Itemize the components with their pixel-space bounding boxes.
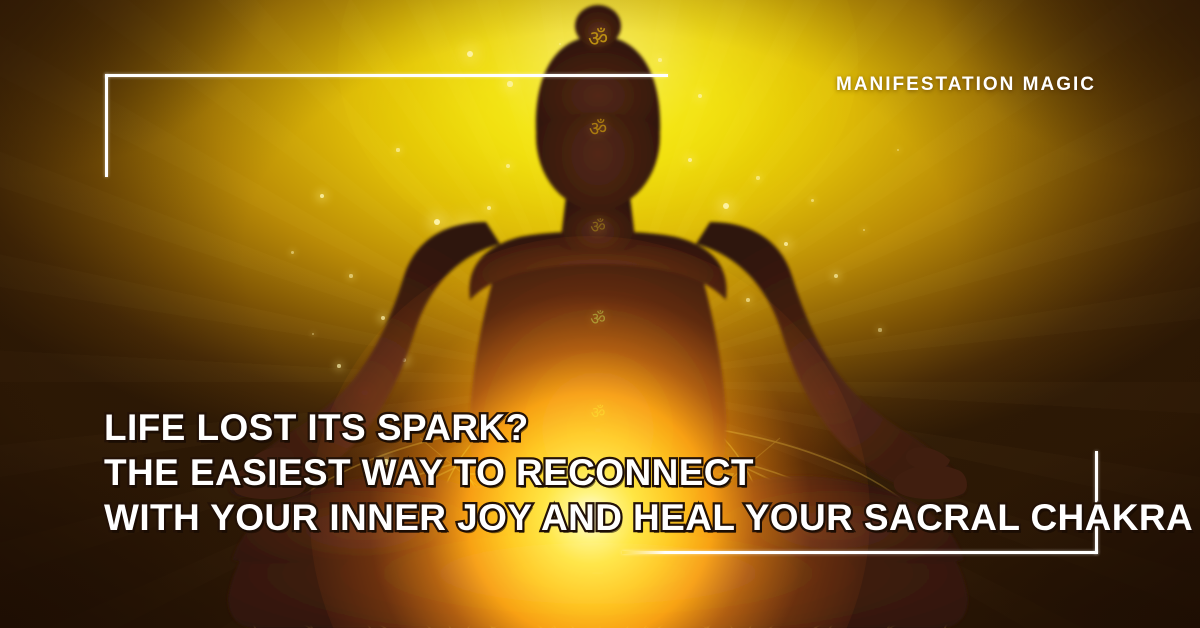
headline-line-2: THE EASIEST WAY TO RECONNECT	[104, 450, 1193, 495]
third-eye-om-symbol: ॐ	[589, 115, 607, 142]
top-left-bracket-vertical	[105, 74, 108, 177]
headline-line-3: WITH YOUR INNER JOY AND HEAL YOUR SACRAL…	[104, 495, 1193, 540]
crown-om-symbol: ॐ	[588, 23, 608, 53]
promo-banner: ॐॐॐॐॐ MANIFESTATION MAGIC LIFE LOST ITS …	[0, 0, 1200, 628]
heart-chakra-symbol: ॐ	[590, 307, 606, 330]
headline-line-1: LIFE LOST ITS SPARK?	[104, 405, 1193, 450]
throat-chakra-symbol: ॐ	[590, 215, 606, 238]
bottom-right-bracket-horizontal	[622, 551, 1098, 554]
headline-block: LIFE LOST ITS SPARK? THE EASIEST WAY TO …	[104, 405, 1193, 540]
top-left-bracket-horizontal	[105, 74, 668, 77]
brand-label: MANIFESTATION MAGIC	[836, 74, 1096, 96]
